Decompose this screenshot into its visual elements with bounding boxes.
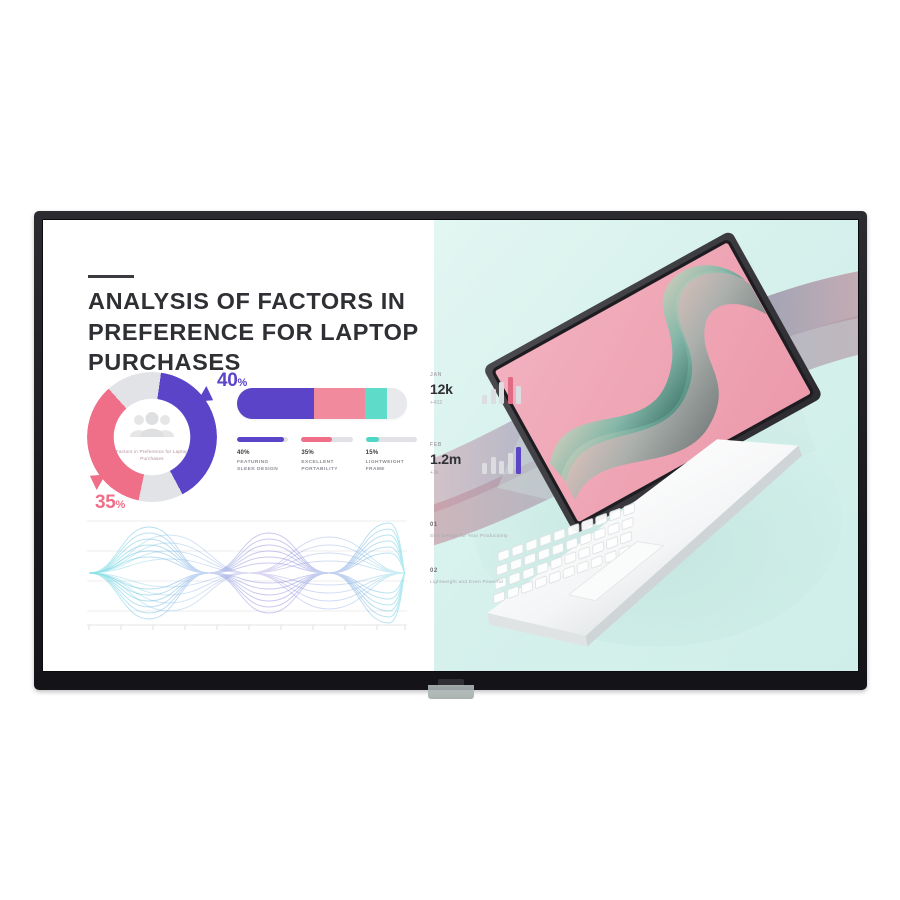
donut-value-40: 40% — [217, 370, 247, 392]
kpi-card-jan: JAN 12k +432 — [430, 372, 525, 406]
numbered-point-text: Slim Design for Your Productivity — [430, 533, 530, 541]
kpi-sparkline — [482, 377, 521, 404]
monitor-screen-frame: ANALYSIS OF FACTORS IN PREFERENCE FOR LA… — [42, 219, 859, 672]
numbered-point: 02 Lightweight and Even Powerful — [430, 568, 530, 587]
donut-value-35-number: 35 — [95, 492, 116, 513]
numbered-point-text: Lightweight and Even Powerful — [430, 579, 530, 587]
screenshot-stage: ANALYSIS OF FACTORS IN PREFERENCE FOR LA… — [0, 0, 900, 900]
legend-label: EXCELLENT PORTABILITY — [301, 459, 352, 475]
donut-value-35-unit: % — [116, 499, 125, 511]
donut-value-40-unit: % — [238, 377, 247, 389]
wave-chart-series-offset — [89, 535, 405, 611]
wave-chart — [87, 513, 407, 635]
wave-chart-ticks — [89, 625, 405, 630]
donut-value-40-number: 40 — [217, 370, 238, 391]
monitor-screen: ANALYSIS OF FACTORS IN PREFERENCE FOR LA… — [43, 220, 858, 671]
legend-list: 40% FEATURING SLEEK DESIGN 35% EXCELLENT… — [237, 437, 417, 474]
legend-item: 35% EXCELLENT PORTABILITY — [301, 437, 352, 474]
slide-title: ANALYSIS OF FACTORS IN PREFERENCE FOR LA… — [88, 286, 528, 378]
stacked-bar-segment-pink — [314, 388, 365, 419]
numbered-points-list: 01 Slim Design for Your Productivity 02 … — [430, 522, 530, 614]
title-rule — [88, 275, 134, 278]
legend-track — [301, 437, 352, 442]
legend-percent: 15% — [366, 450, 417, 456]
stacked-bar-segment-purple — [237, 388, 314, 419]
legend-percent: 35% — [301, 450, 352, 456]
legend-track — [366, 437, 417, 442]
donut-value-35: 35% — [95, 492, 125, 514]
kpi-sparkline — [482, 447, 521, 474]
donut-caption: Factors in Preference for Laptop Purchas… — [104, 448, 200, 462]
stacked-bar — [237, 388, 407, 419]
legend-label: LIGHTWEIGHT FRAME — [366, 459, 417, 475]
people-icon — [129, 412, 175, 438]
numbered-point-index: 01 — [430, 522, 530, 528]
kpi-card-feb: FEB 1.2m +3k — [430, 442, 525, 476]
legend-track — [237, 437, 288, 442]
monitor-device: ANALYSIS OF FACTORS IN PREFERENCE FOR LA… — [34, 211, 867, 690]
numbered-point-index: 02 — [430, 568, 530, 574]
donut-chart: Factors in Preference for Laptop Purchas… — [87, 372, 217, 502]
numbered-point: 01 Slim Design for Your Productivity — [430, 522, 530, 541]
legend-item: 15% LIGHTWEIGHT FRAME — [366, 437, 417, 474]
presentation-slide: ANALYSIS OF FACTORS IN PREFERENCE FOR LA… — [43, 220, 858, 671]
legend-percent: 40% — [237, 450, 288, 456]
monitor-stand — [428, 685, 474, 699]
stacked-bar-segment-teal — [365, 388, 387, 419]
legend-label: FEATURING SLEEK DESIGN — [237, 459, 288, 475]
legend-item: 40% FEATURING SLEEK DESIGN — [237, 437, 288, 474]
